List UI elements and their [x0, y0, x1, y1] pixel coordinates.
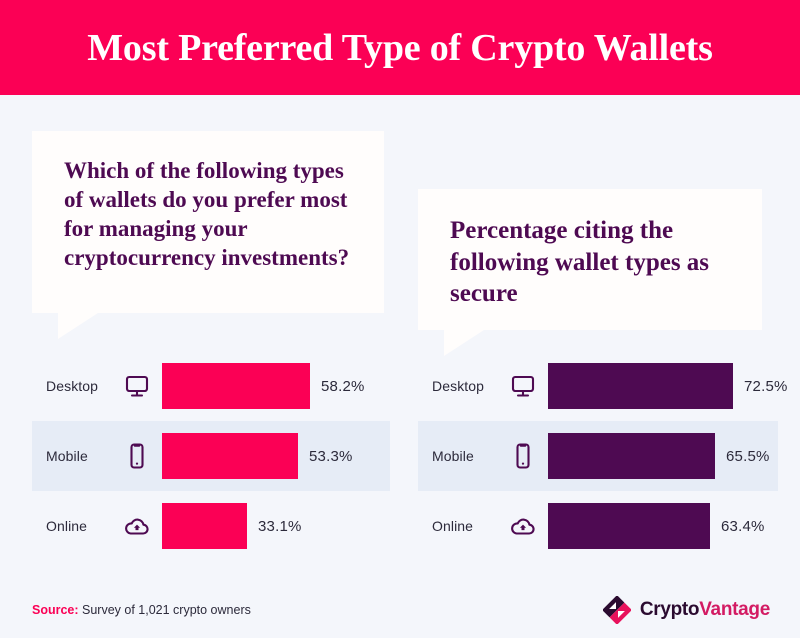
row-label: Mobile — [46, 448, 120, 464]
row-label: Online — [46, 518, 120, 534]
row-label: Desktop — [46, 378, 120, 394]
source-text: Survey of 1,021 crypto owners — [79, 603, 251, 617]
mobile-phone-icon — [506, 439, 540, 473]
bar-desktop-secure — [548, 363, 733, 409]
bar-value: 58.2% — [321, 378, 365, 395]
cryptovantage-diamond-logo-icon — [603, 596, 631, 624]
secure-speech-bubble: Percentage citing the following wallet t… — [418, 189, 762, 330]
logo-text-vantage: Vantage — [699, 599, 770, 620]
header-banner: Most Preferred Type of Crypto Wallets — [0, 0, 800, 95]
page-title: Most Preferred Type of Crypto Wallets — [87, 26, 712, 70]
bar-online-secure — [548, 503, 710, 549]
chart-row: Online 33.1% — [32, 491, 390, 561]
chart-row: Mobile 53.3% — [32, 421, 390, 491]
bar-value: 53.3% — [309, 448, 353, 465]
logo-text-crypto: Crypto — [640, 599, 699, 620]
mobile-phone-icon — [120, 439, 154, 473]
chart-right-rows: Desktop 72.5% Mobile — [418, 351, 778, 561]
bar-value: 63.4% — [721, 518, 765, 535]
secure-heading: Percentage citing the following wallet t… — [450, 215, 736, 310]
cloud-icon — [120, 509, 154, 543]
bar-desktop-preferred — [162, 363, 310, 409]
desktop-monitor-icon — [120, 369, 154, 403]
bar-mobile-secure — [548, 433, 715, 479]
cryptovantage-logo[interactable]: CryptoVantage — [603, 596, 770, 624]
row-label: Online — [432, 518, 506, 534]
chart-row: Online 63.4% — [418, 491, 778, 561]
source-label: Source: — [32, 603, 79, 617]
question-speech-bubble: Which of the following types of wallets … — [32, 131, 384, 313]
footer: Source: Survey of 1,021 crypto owners Cr… — [0, 582, 800, 638]
chart-row: Desktop 72.5% — [418, 351, 778, 421]
bar-value: 72.5% — [744, 378, 788, 395]
bar-value: 33.1% — [258, 518, 302, 535]
cloud-icon — [506, 509, 540, 543]
bar-value: 65.5% — [726, 448, 770, 465]
cryptovantage-logo-text: CryptoVantage — [640, 599, 770, 621]
speech-bubble-tail — [58, 313, 98, 339]
desktop-monitor-icon — [506, 369, 540, 403]
infographic-body: Which of the following types of wallets … — [0, 95, 800, 638]
source-note: Source: Survey of 1,021 crypto owners — [32, 603, 251, 617]
bar-mobile-preferred — [162, 433, 298, 479]
question-heading: Which of the following types of wallets … — [64, 157, 358, 273]
bar-online-preferred — [162, 503, 247, 549]
chart-row: Desktop 58.2% — [32, 351, 390, 421]
chart-row: Mobile 65.5% — [418, 421, 778, 491]
chart-left-rows: Desktop 58.2% Mobile — [32, 351, 390, 561]
row-label: Mobile — [432, 448, 506, 464]
row-label: Desktop — [432, 378, 506, 394]
